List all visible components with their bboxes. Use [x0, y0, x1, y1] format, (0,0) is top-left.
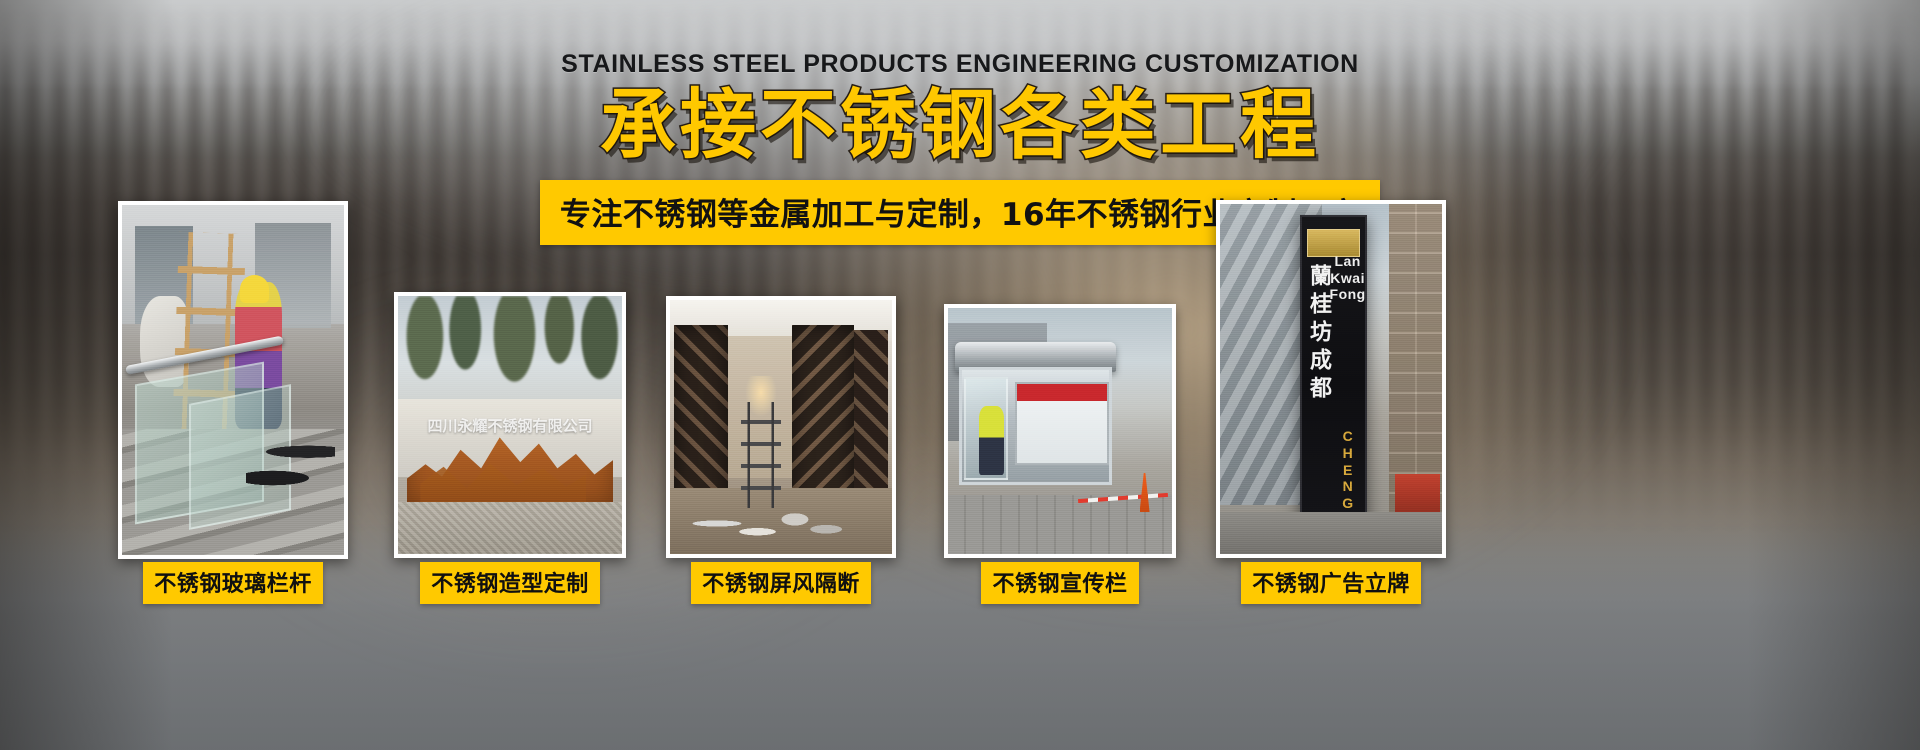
gallery-item-1[interactable] [118, 201, 348, 559]
gallery-item-3[interactable] [666, 296, 896, 558]
gallery-caption-2: 不锈钢造型定制 [420, 562, 600, 604]
gallery-thumb-4[interactable] [944, 304, 1176, 558]
gallery-item-4[interactable] [944, 304, 1176, 558]
promotional-banner: STAINLESS STEEL PRODUCTS ENGINEERING CUS… [0, 0, 1920, 750]
pylon-english-line-3: Fong [1330, 286, 1366, 303]
pylon-city-letter-5: G [1342, 495, 1353, 512]
pylon-city-text: C H E N G D U [1335, 428, 1359, 519]
gallery-caption-row-5: 不锈钢广告立牌 [1216, 562, 1446, 604]
gallery-thumb-3[interactable] [666, 296, 896, 558]
photo-bulletin-board [948, 308, 1172, 554]
pylon-english-text: Lan Kwai Fong [1335, 253, 1359, 428]
gallery-caption-row-2: 不锈钢造型定制 [394, 562, 626, 604]
pylon-chinese-chars: 蘭桂坊成都 [1305, 264, 1330, 404]
gallery-caption-row-3: 不锈钢屏风隔断 [666, 562, 896, 604]
gallery-item-2[interactable]: 四川永耀不锈钢有限公司 [394, 292, 626, 558]
pylon-city-letter-3: E [1343, 462, 1352, 479]
gallery-item-5[interactable]: 蘭桂坊成都 Lan Kwai Fong C H E N G D U [1216, 200, 1446, 558]
photo-glass-railing [122, 205, 344, 555]
photo-watermark: 四川永耀不锈钢有限公司 [398, 415, 622, 436]
gallery-strip: 不锈钢玻璃栏杆 四川永耀不锈钢有限公司 不锈钢造型定制 [0, 0, 1920, 750]
gallery-caption-row-4: 不锈钢宣传栏 [944, 562, 1176, 604]
pylon-english-line-2: Kwai [1330, 270, 1365, 287]
photo-screen-partition [670, 300, 892, 554]
pylon-city-letter-1: C [1343, 428, 1353, 445]
gallery-thumb-1[interactable] [118, 201, 348, 559]
pylon-city-letter-2: H [1343, 445, 1353, 462]
photo-advertising-pylon: 蘭桂坊成都 Lan Kwai Fong C H E N G D U [1220, 204, 1442, 554]
gallery-caption-4: 不锈钢宣传栏 [981, 562, 1138, 604]
gallery-caption-5: 不锈钢广告立牌 [1241, 562, 1421, 604]
gallery-thumb-2[interactable]: 四川永耀不锈钢有限公司 [394, 292, 626, 558]
gallery-thumb-5[interactable]: 蘭桂坊成都 Lan Kwai Fong C H E N G D U [1216, 200, 1446, 558]
pylon-city-letter-4: N [1343, 478, 1353, 495]
photo-metal-sculpture: 四川永耀不锈钢有限公司 [398, 296, 622, 554]
pylon-english-line-1: Lan [1334, 253, 1360, 270]
pylon-chinese-text: 蘭桂坊成都 [1304, 264, 1331, 446]
gallery-caption-3: 不锈钢屏风隔断 [691, 562, 871, 604]
gallery-caption-row-1: 不锈钢玻璃栏杆 [118, 562, 348, 604]
gallery-caption-1: 不锈钢玻璃栏杆 [143, 562, 323, 604]
